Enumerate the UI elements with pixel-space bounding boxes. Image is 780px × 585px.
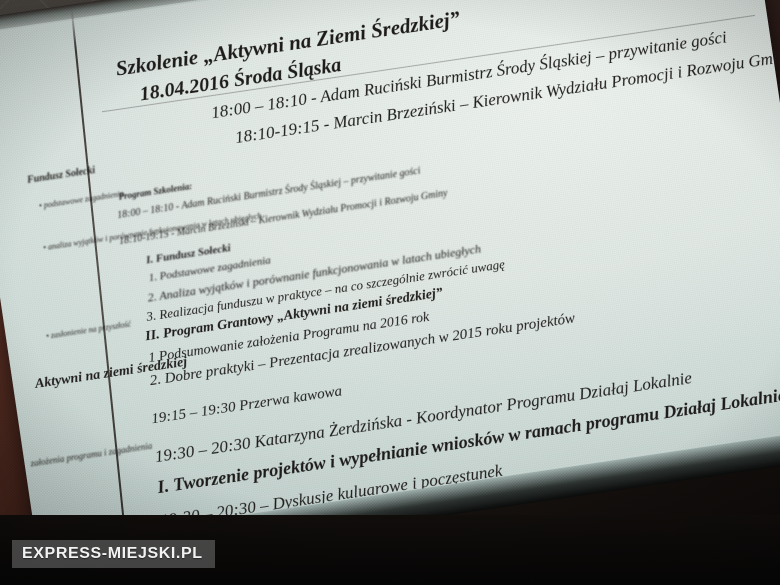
watermark-badge: EXPRESS-MIEJSKI.PL (12, 540, 215, 568)
projection-screen: Fundusz Sołecki • podstawowe zagadnienia… (0, 0, 780, 549)
photo-frame: Fundusz Sołecki • podstawowe zagadnienia… (0, 0, 780, 585)
